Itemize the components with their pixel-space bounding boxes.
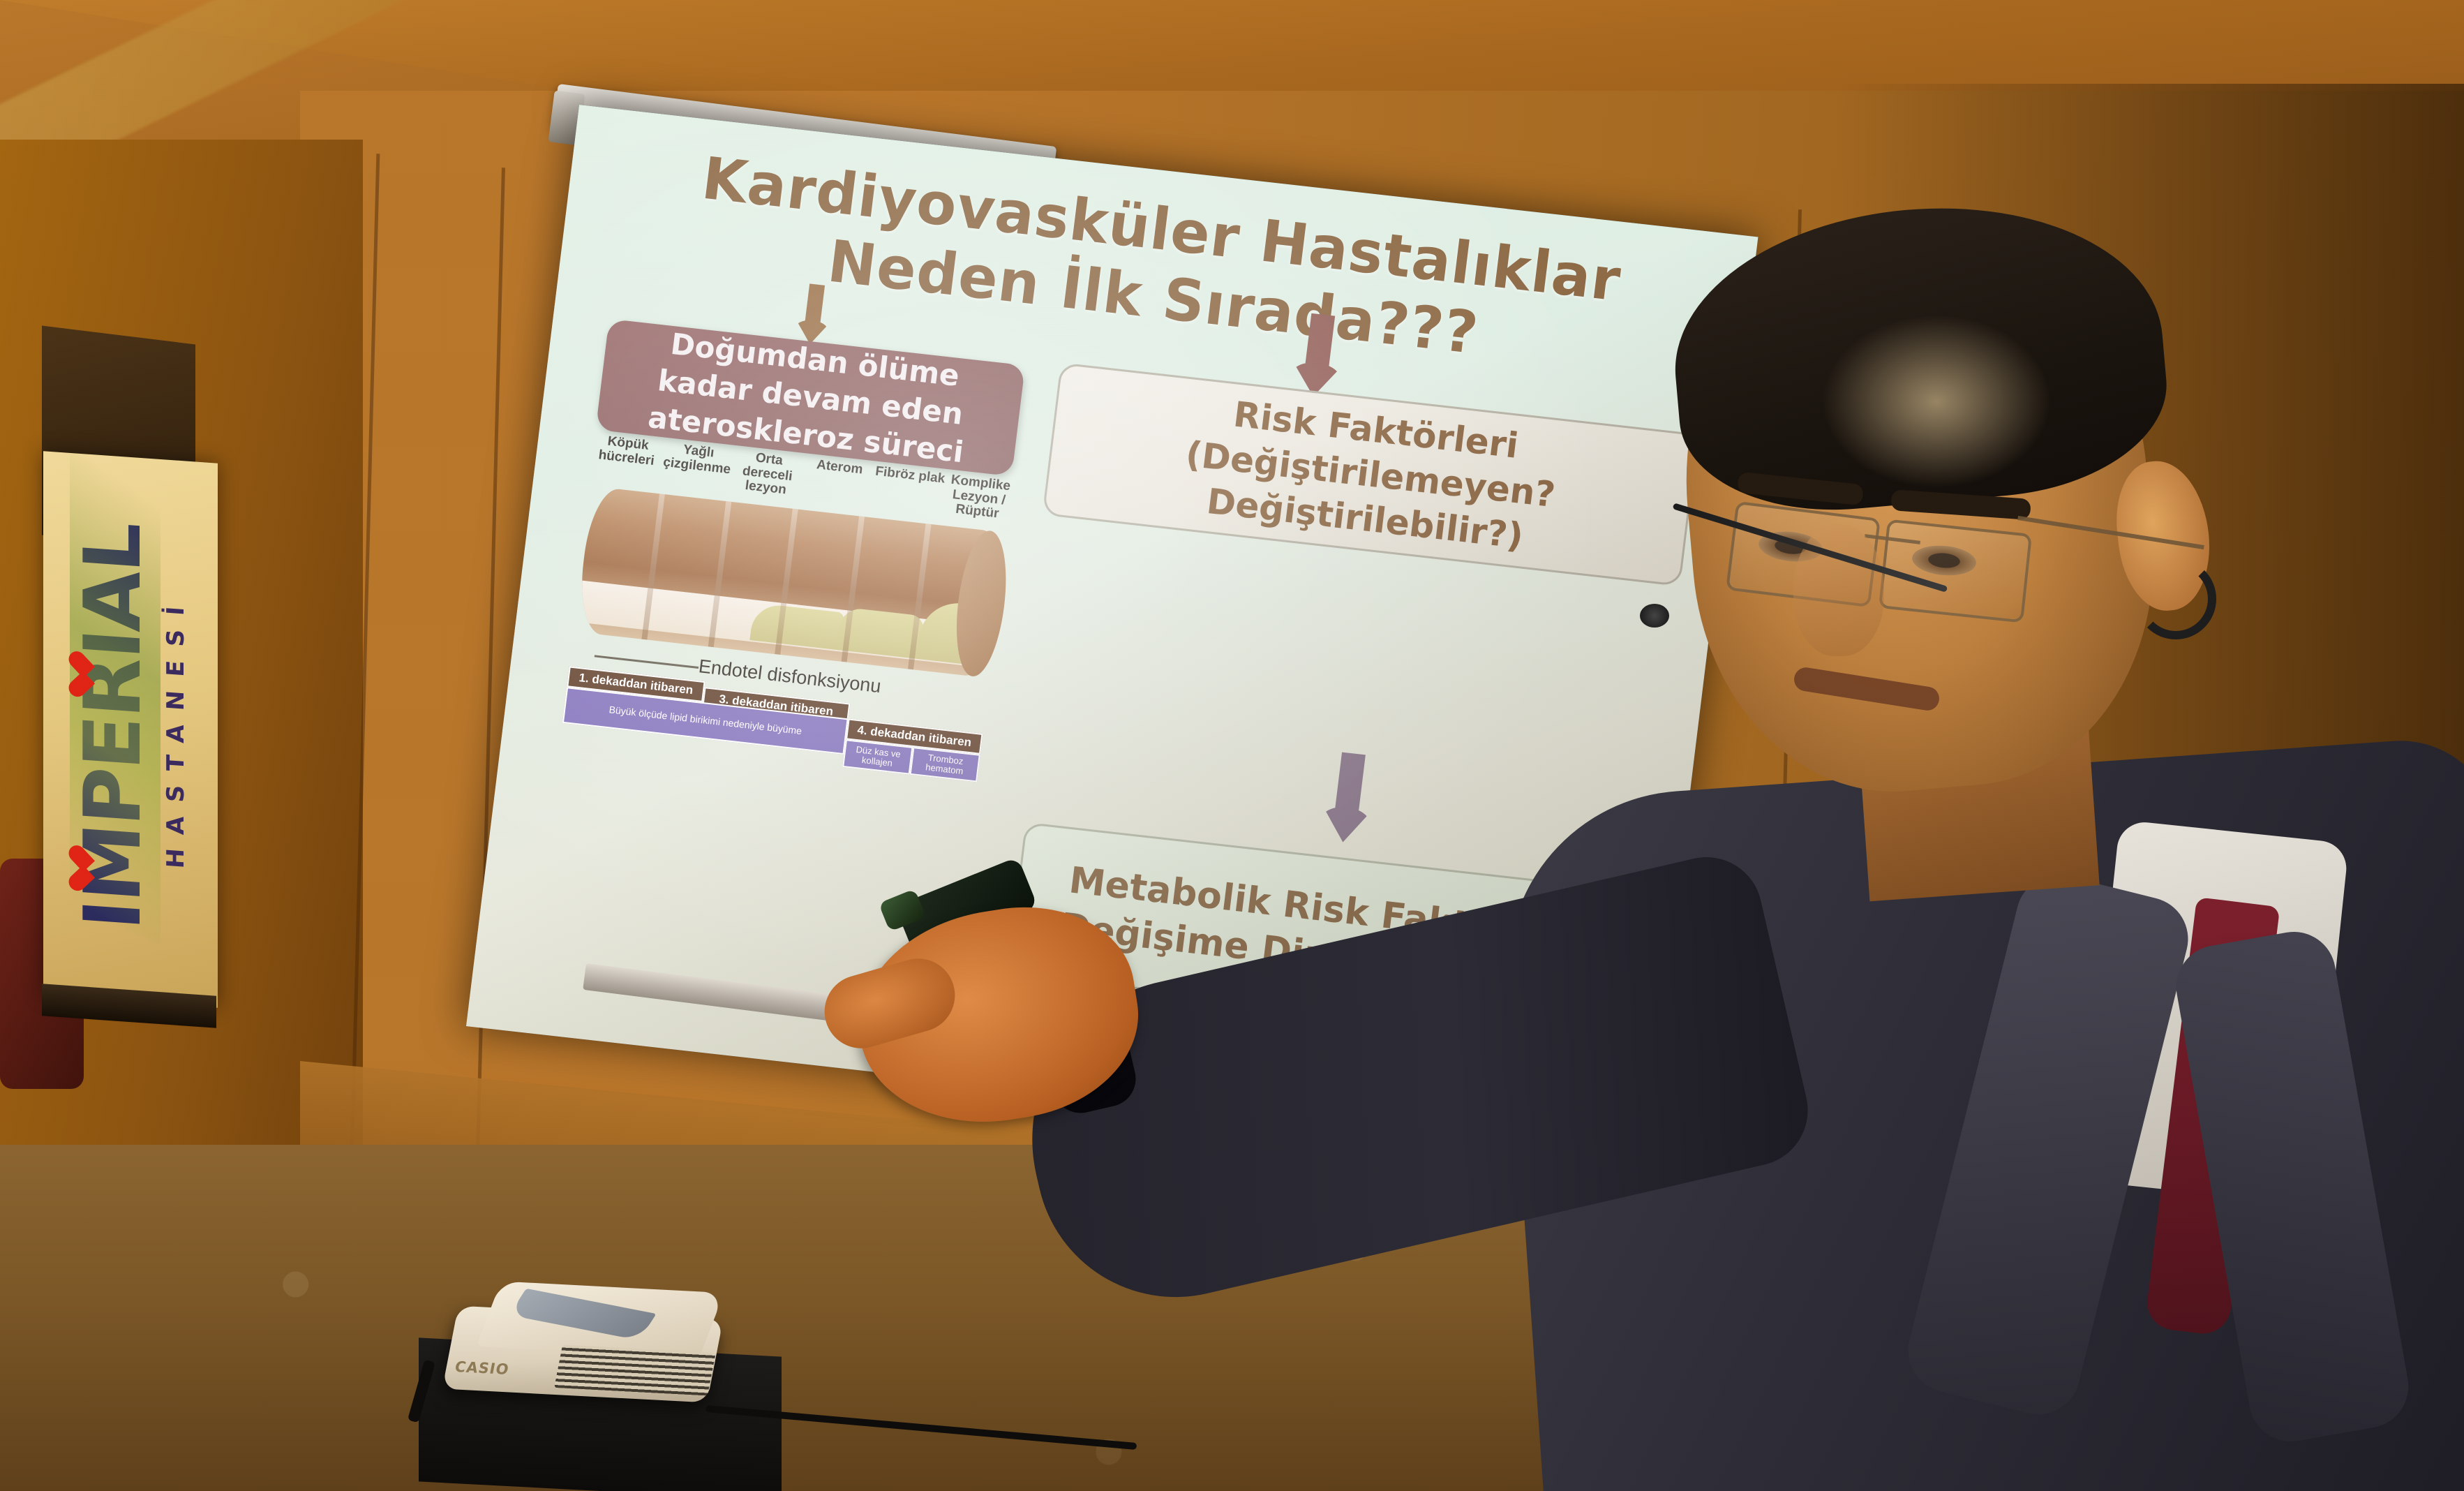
heart-icon xyxy=(70,667,96,698)
atherosclerosis-figure: Köpük hücreleri Yağlı çizgilenme Orta de… xyxy=(556,433,1017,785)
forehead-highlight xyxy=(1821,314,2052,489)
imperial-hospital-banner: IMPERIAL HASTANESİ xyxy=(43,451,218,1007)
microphone-capsule-icon xyxy=(1640,604,1669,628)
presenter xyxy=(1431,230,2464,1491)
arrow-to-metabolic-icon xyxy=(1311,750,1384,847)
banner-brand-text: IMPERIAL xyxy=(74,520,152,932)
banner-subtitle: HASTANESİ xyxy=(162,592,190,870)
figure-stage-label: Komplike Lezyon / Rüptür xyxy=(941,473,1017,523)
arrow-to-risk-factors-icon xyxy=(1282,311,1354,401)
screenshot-root: IMPERIAL HASTANESİ Kardiyovasküler Hasta… xyxy=(0,0,2464,1491)
figure-stage-label: Orta dereceli lezyon xyxy=(729,449,805,499)
headset-earhook xyxy=(2135,558,2216,639)
projector-brand-label: CASIO xyxy=(454,1358,511,1378)
figure-caption-rule xyxy=(595,655,699,669)
projector-vents xyxy=(554,1345,716,1396)
arrow-to-atherosclerosis-icon xyxy=(789,282,838,346)
figure-stage-label: Yağlı çizgilenme xyxy=(661,441,735,477)
heart-icon xyxy=(70,861,96,892)
glasses-lens-right xyxy=(1879,519,2032,623)
figure-stage-label: Köpük hücreleri xyxy=(590,433,664,469)
